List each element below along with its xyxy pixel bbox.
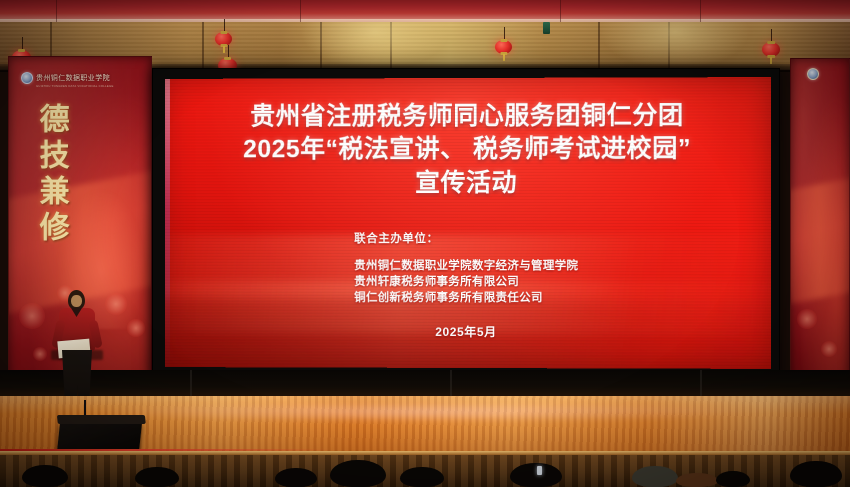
lantern-icon [215, 32, 232, 46]
bokeh-dot [105, 293, 127, 315]
slide-content: 贵州省注册税务师同心服务团铜仁分团 2025年“税法宣讲、 税务师考试进校园” … [165, 77, 771, 369]
lantern-cap [767, 41, 775, 44]
audience-head [716, 471, 750, 487]
bokeh-dot [821, 341, 837, 357]
under-screen-shadow [0, 370, 850, 398]
ceiling-seam [560, 0, 561, 24]
lantern-cap [500, 39, 507, 42]
organizer-item: 铜仁创新税务师事务所有限责任公司 [354, 290, 578, 307]
banner-swoosh [790, 177, 850, 305]
slide-title-line-2: 2025年“税法宣讲、 税务师考试进校园” [243, 133, 691, 167]
stage-front-panel [0, 455, 850, 487]
organizer-item: 贵州轩康税务师事务所有限公司 [354, 274, 578, 291]
bokeh-dot [797, 309, 817, 329]
organizer-block: 联合主办单位： 贵州铜仁数据职业学院数字经济与管理学院 贵州轩康税务师事务所有限… [354, 230, 578, 340]
wall-light-glow [600, 22, 750, 70]
audience-head [400, 467, 444, 487]
college-name-cn: 贵州铜仁数据职业学院 [36, 75, 110, 82]
college-logo: 贵州铜仁数据职业学院 GUIZHOU TONGREN DATA VOCATION… [21, 67, 120, 89]
audience-head [135, 467, 179, 487]
lantern-cap [18, 49, 26, 52]
lantern-icon [495, 40, 512, 54]
presenter-face [71, 295, 82, 307]
ceiling-fixture-icon [543, 22, 550, 34]
stage-photo: 贵州铜仁数据职业学院 GUIZHOU TONGREN DATA VOCATION… [0, 0, 850, 487]
stage-stud [700, 370, 702, 398]
audience-head [632, 466, 678, 487]
stage-stud [450, 370, 452, 398]
bokeh-dot [127, 319, 145, 337]
ceiling-seam [300, 0, 301, 24]
ceiling-band [0, 0, 850, 24]
organizer-label: 联合主办单位： [354, 230, 578, 246]
college-logo-text: 贵州铜仁数据职业学院 GUIZHOU TONGREN DATA VOCATION… [36, 67, 120, 89]
college-seal-icon [21, 72, 33, 84]
lantern-tassel [223, 46, 225, 53]
audience-head [330, 460, 386, 487]
stage-stud [190, 370, 192, 398]
audience-phone-screen [537, 466, 542, 475]
audience-head [22, 465, 68, 487]
bokeh-dot [19, 303, 45, 329]
bokeh-dot [33, 347, 47, 361]
organizer-item: 贵州铜仁数据职业学院数字经济与管理学院 [354, 258, 578, 275]
emblem-icon [807, 68, 819, 80]
slide-title-line-3: 宣传活动 [415, 166, 517, 199]
monitor-top [57, 415, 146, 424]
lantern-icon [762, 42, 780, 57]
audience-head [275, 468, 317, 487]
slide-date: 2025年5月 [354, 322, 578, 340]
wall-panel-line [202, 22, 204, 70]
floor-light-reflection [85, 402, 765, 422]
wall-light-glow [300, 22, 450, 70]
ceiling-seam [700, 0, 701, 24]
audience-head [790, 461, 842, 487]
lantern-tassel [503, 54, 505, 61]
right-banner-logo [807, 68, 819, 80]
lantern-cap [220, 31, 227, 34]
lantern-tassel [770, 57, 772, 64]
audience-head [676, 473, 718, 487]
college-name-en: GUIZHOU TONGREN DATA VOCATIONAL COLLEGE [36, 85, 114, 88]
led-screen: 贵州省注册税务师同心服务团铜仁分团 2025年“税法宣讲、 税务师考试进校园” … [165, 77, 771, 369]
audience-head [510, 463, 562, 487]
lantern-cap [224, 57, 232, 60]
right-banner [790, 58, 850, 390]
banner-vertical-slogan: 德技兼修 [31, 103, 71, 247]
slide-title-line-1: 贵州省注册税务师同心服务团铜仁分团 [250, 99, 683, 133]
ceiling-seam [56, 0, 57, 24]
